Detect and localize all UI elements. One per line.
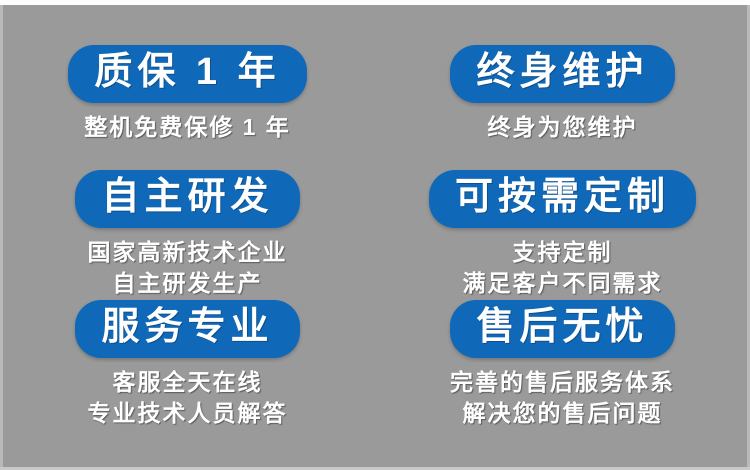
feature-subtitles: 完善的售后服务体系 解决您的售后问题	[450, 367, 675, 429]
feature-subtitle-line: 专业技术人员解答	[88, 398, 288, 429]
feature-item-professional-service: 服务专业 客服全天在线 专业技术人员解答	[0, 300, 375, 445]
feature-title: 自主研发	[101, 175, 273, 219]
feature-subtitle-line: 终身为您维护	[488, 112, 638, 143]
feature-title: 终身维护	[476, 50, 648, 94]
feature-subtitle-line: 解决您的售后问题	[463, 398, 663, 429]
feature-subtitle-line: 完善的售后服务体系	[450, 367, 675, 398]
feature-title-pill: 可按需定制	[429, 170, 696, 228]
feature-title: 售后无忧	[476, 305, 648, 349]
feature-subtitles: 终身为您维护	[488, 112, 638, 143]
feature-title-pill: 终身维护	[450, 45, 674, 103]
service-guarantee-banner: 质保 1 年 整机免费保修 1 年 终身维护 终身为您维护 自主研发 国家高新技…	[0, 0, 750, 470]
feature-title-pill: 服务专业	[75, 300, 299, 358]
feature-item-independent-rd: 自主研发 国家高新技术企业 自主研发生产	[0, 170, 375, 300]
feature-subtitles: 支持定制 满足客户不同需求	[463, 237, 663, 299]
feature-title-pill: 质保 1 年	[68, 45, 306, 103]
feature-grid: 质保 1 年 整机免费保修 1 年 终身维护 终身为您维护 自主研发 国家高新技…	[0, 5, 750, 470]
feature-title: 服务专业	[101, 305, 273, 349]
feature-title-pill: 自主研发	[75, 170, 299, 228]
feature-subtitles: 客服全天在线 专业技术人员解答	[88, 367, 288, 429]
feature-subtitle-line: 国家高新技术企业	[88, 237, 288, 268]
feature-title: 质保 1 年	[94, 50, 280, 94]
feature-subtitle-line: 客服全天在线	[113, 367, 263, 398]
feature-item-lifetime-maintenance: 终身维护 终身为您维护	[375, 45, 750, 170]
feature-title-pill: 售后无忧	[450, 300, 674, 358]
feature-subtitle-line: 支持定制	[513, 237, 613, 268]
feature-title: 可按需定制	[455, 175, 670, 219]
feature-subtitle-line: 满足客户不同需求	[463, 268, 663, 299]
feature-subtitles: 国家高新技术企业 自主研发生产	[88, 237, 288, 299]
feature-item-customization: 可按需定制 支持定制 满足客户不同需求	[375, 170, 750, 300]
feature-subtitle-line: 自主研发生产	[113, 268, 263, 299]
feature-item-warranty: 质保 1 年 整机免费保修 1 年	[0, 45, 375, 170]
feature-item-after-sales: 售后无忧 完善的售后服务体系 解决您的售后问题	[375, 300, 750, 445]
feature-subtitles: 整机免费保修 1 年	[84, 112, 291, 143]
feature-subtitle-line: 整机免费保修 1 年	[84, 112, 291, 143]
